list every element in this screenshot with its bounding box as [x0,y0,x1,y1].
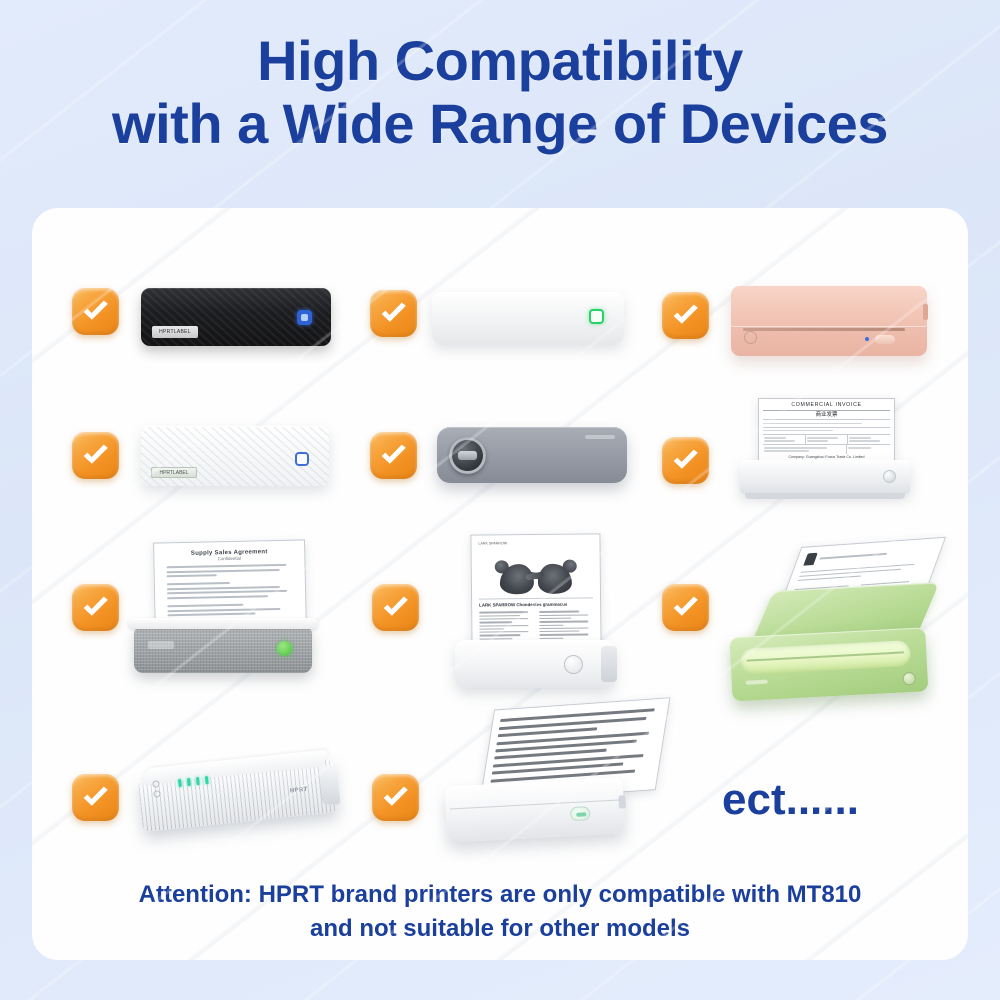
headline-line-1: High Compatibility [0,30,1000,93]
body-seam [450,800,620,810]
orange-check-icon [72,432,119,479]
brand-mark [148,641,174,649]
orange-check-icon [72,584,119,631]
invoice-grid [763,444,890,454]
headline-line-2: with a Wide Range of Devices [0,93,1000,156]
brand-mark [585,435,615,439]
document-bird-field-guide: LARK SPARROW LARK SPARROW Chondestes gra… [470,533,601,650]
bird-icon [538,564,572,594]
orange-check-icon [72,774,119,821]
status-led-icon [865,337,869,341]
paper-rail [128,618,318,629]
paper-slot [743,328,905,331]
printer-brand-label: HPRTLABEL [152,326,198,338]
fabric-printer-body [134,625,312,673]
logo-mark-icon [803,553,818,566]
device-green-a4-printer [727,583,943,714]
orange-check-icon [662,584,709,631]
power-button-icon [902,672,916,686]
device-white-round-button-printer: LARK SPARROW LARK SPARROW Chondestes gra… [455,640,615,688]
power-button-icon [875,335,895,344]
invoice-row [763,427,890,434]
invoice-title: COMMERCIAL INVOICE [763,402,890,411]
power-button-icon [570,806,591,821]
orange-check-icon [662,292,709,339]
orange-check-icon [370,432,417,479]
printer-brand-label: HPRT [290,787,308,795]
invoice-row [763,419,890,426]
document-columns [479,609,593,642]
power-button-icon [564,655,583,674]
device-gray-dial-printer [437,427,627,483]
cn-printer-body [445,777,626,842]
power-button-icon [589,309,604,324]
paper-tray [740,640,911,675]
power-button-icon [295,452,309,466]
side-cap [601,646,617,682]
document-title: LARK SPARROW Chondestes grammacus [479,597,593,607]
printer-base [745,493,905,499]
brand-mark [746,680,768,685]
device-white-textured-printer: HPRTLABEL [141,426,329,486]
device-pink-a4-printer [731,286,927,356]
bird-illustration [479,547,593,594]
device-white-green-button-printer [432,292,624,344]
invoice-subtitle: 商业发票 [763,411,890,420]
orange-check-icon [372,774,419,821]
orange-check-icon [370,290,417,337]
device-white-cn-doc-printer [445,777,626,842]
brand-logo-icon [744,331,757,344]
side-port-icon [923,304,928,320]
device-black-carbon-printer: HPRTLABEL [141,288,331,346]
document-caption: LARK SPARROW [478,540,592,545]
orange-check-icon [662,437,709,484]
invoice-printer-body [740,460,910,494]
attention-line-2: and not suitable for other models [60,912,940,946]
document-commercial-invoice: COMMERCIAL INVOICE 商业发票 Company: Guangzh… [758,398,895,465]
device-gray-fabric-printer: Supply Sales Agreement Confidential [134,625,312,673]
printer-brand-label: HPRTLABEL [151,467,197,478]
status-led-icon [178,776,209,787]
attention-note: Attention: HPRT brand printers are only … [60,878,940,946]
green-printer-body [729,627,928,701]
power-button-icon [883,470,896,483]
printer-lid [731,286,927,326]
side-port-icon [618,795,626,808]
attention-line-1: Attention: HPRT brand printers are only … [60,878,940,912]
page-title: High Compatibility with a Wide Range of … [0,30,1000,155]
power-button-icon [277,641,292,656]
etc-label: ect...... [722,775,859,825]
round-button-printer-body [455,640,615,688]
power-button-icon [297,310,312,325]
orange-check-icon [372,584,419,631]
dial-icon [449,437,486,474]
invoice-grid [763,434,890,444]
orange-check-icon [72,288,119,335]
